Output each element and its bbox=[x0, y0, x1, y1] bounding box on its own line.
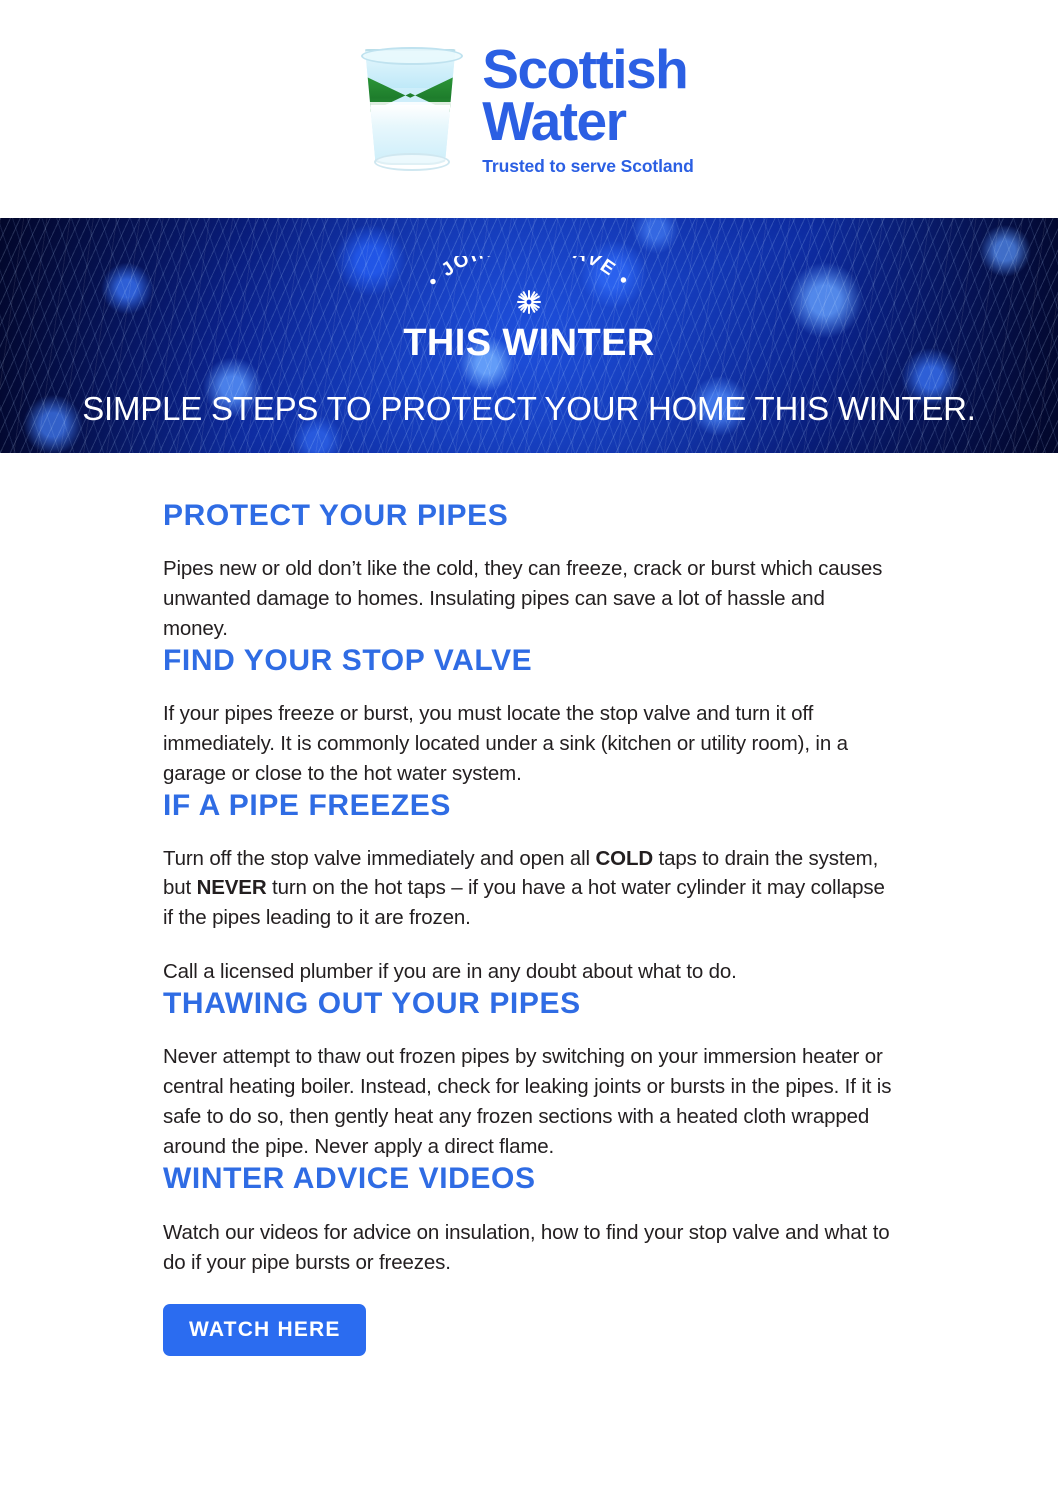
section-find-your-stop-valve: FIND YOUR STOP VALVE If your pipes freez… bbox=[163, 644, 893, 789]
section-heading: IF A PIPE FREEZES bbox=[163, 789, 893, 822]
section-if-a-pipe-freezes: IF A PIPE FREEZES Turn off the stop valv… bbox=[163, 789, 893, 988]
section-winter-advice-videos: WINTER ADVICE VIDEOS Watch our videos fo… bbox=[163, 1162, 893, 1356]
section-body: If your pipes freeze or burst, you must … bbox=[163, 699, 893, 789]
snowflake-icon bbox=[515, 288, 543, 316]
join-the-wave-lockup: • JOIN THE WAVE • bbox=[414, 256, 644, 330]
banner-subheadline: SIMPLE STEPS TO PROTECT YOUR HOME THIS W… bbox=[82, 390, 976, 428]
section-body: Watch our videos for advice on insulatio… bbox=[163, 1218, 893, 1278]
section-heading: WINTER ADVICE VIDEOS bbox=[163, 1162, 893, 1195]
brand-header: Scottish Water Trusted to serve Scotland bbox=[0, 0, 1058, 218]
watch-here-button[interactable]: WATCH HERE bbox=[163, 1304, 366, 1356]
brand-name-line1: Scottish bbox=[482, 43, 693, 95]
advice-content: PROTECT YOUR PIPES Pipes new or old don’… bbox=[0, 499, 1058, 1356]
scottish-water-logo[interactable]: Scottish Water Trusted to serve Scotland bbox=[356, 43, 693, 176]
section-body-secondary: Call a licensed plumber if you are in an… bbox=[163, 957, 893, 987]
brand-wordmark: Scottish Water Trusted to serve Scotland bbox=[482, 43, 693, 176]
body-emphasis-cold: COLD bbox=[596, 847, 653, 870]
section-body: Turn off the stop valve immediately and … bbox=[163, 844, 893, 934]
section-body: Pipes new or old don’t like the cold, th… bbox=[163, 554, 893, 644]
glass-of-water-icon bbox=[356, 45, 464, 173]
section-heading: THAWING OUT YOUR PIPES bbox=[163, 987, 893, 1020]
section-body: Never attempt to thaw out frozen pipes b… bbox=[163, 1042, 893, 1162]
winter-campaign-banner: • JOIN THE WAVE • bbox=[0, 218, 1058, 453]
section-heading: FIND YOUR STOP VALVE bbox=[163, 644, 893, 677]
brand-tagline: Trusted to serve Scotland bbox=[482, 158, 693, 176]
section-thawing-out-your-pipes: THAWING OUT YOUR PIPES Never attempt to … bbox=[163, 987, 893, 1162]
body-text-part: Turn off the stop valve immediately and … bbox=[163, 847, 596, 870]
body-text-part: turn on the hot taps – if you have a hot… bbox=[163, 876, 885, 929]
section-heading: PROTECT YOUR PIPES bbox=[163, 499, 893, 532]
section-protect-your-pipes: PROTECT YOUR PIPES Pipes new or old don’… bbox=[163, 499, 893, 644]
brand-name-line2: Water bbox=[482, 95, 693, 147]
body-emphasis-never: NEVER bbox=[197, 876, 267, 899]
arc-text-join-the-wave: • JOIN THE WAVE • bbox=[424, 256, 635, 292]
